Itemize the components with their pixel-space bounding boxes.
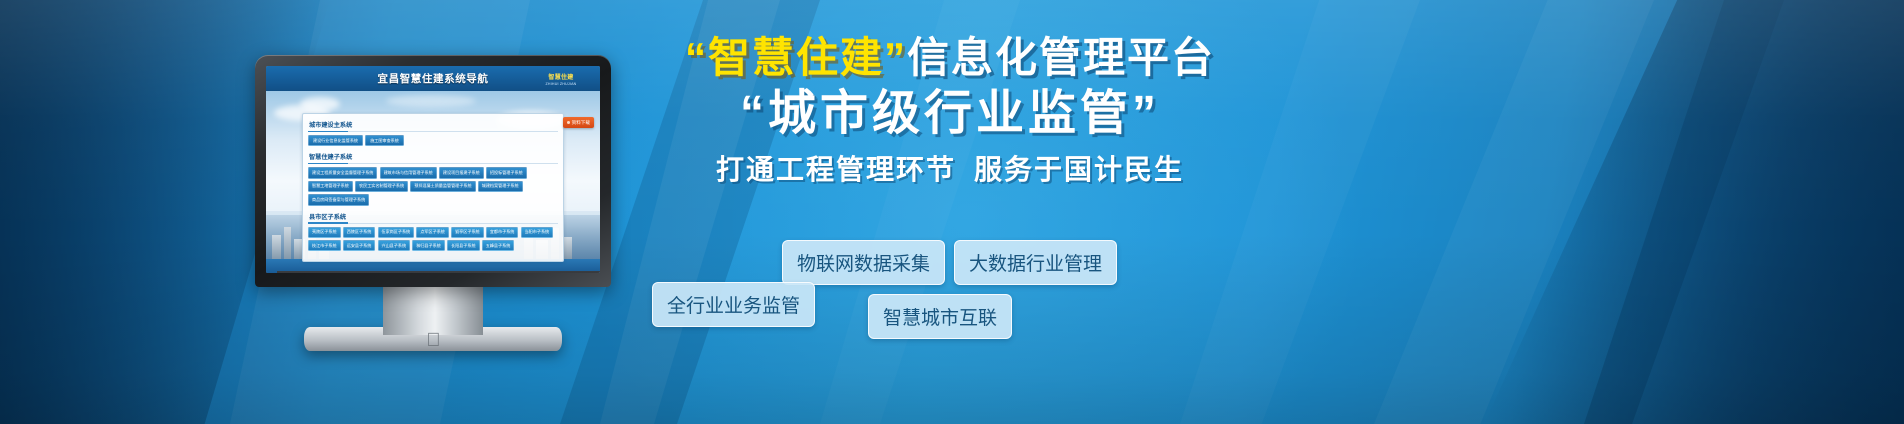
section-title-2: 智慧住建子系统 bbox=[308, 150, 558, 164]
screen-body: 城市建设主系统 建设行业信息化监管系统 施工图审查系统 智慧住建子系统 建设工程… bbox=[266, 91, 600, 273]
screen-logo-cn: 智慧住建 bbox=[528, 72, 594, 81]
section-items-3: 夷陵区子系统 西陵区子系统 伍家岗区子系统 点军区子系统 猇亭区子系统 宜都市子… bbox=[308, 227, 558, 252]
cloud-shape bbox=[300, 97, 340, 111]
screen-title: 宜昌智慧住建系统导航 bbox=[378, 71, 489, 86]
monitor-stand bbox=[383, 283, 483, 335]
feature-tag-iot[interactable]: 物联网数据采集 bbox=[782, 240, 945, 285]
nav-chip[interactable]: 宜都市子系统 bbox=[486, 227, 519, 238]
nav-chip[interactable]: 预拌混凝土质量监管管理子系统 bbox=[410, 181, 475, 192]
nav-chip[interactable]: 枝江市子系统 bbox=[308, 240, 341, 251]
download-icon bbox=[567, 121, 570, 124]
headline-highlight: 智慧住建 bbox=[708, 34, 884, 81]
monitor-screen: 宜昌智慧住建系统导航 智慧住建 ZHIHUI ZHUJIAN bbox=[266, 66, 600, 273]
headline-line-2: “城市级行业监管” bbox=[640, 85, 1260, 144]
section-title-3: 县市区子系统 bbox=[308, 210, 558, 224]
headline-block: “智慧住建”信息化管理平台 “城市级行业监管” 打通工程管理环节服务于国计民生 bbox=[640, 34, 1260, 187]
section-items-1: 建设行业信息化监管系统 施工图审查系统 bbox=[308, 135, 558, 146]
headline-quote-close: ” bbox=[884, 34, 907, 81]
cloud-shape bbox=[386, 95, 476, 107]
feature-tag-supervision[interactable]: 全行业业务监管 bbox=[652, 282, 815, 327]
nav-chip[interactable]: 农民工实名制管理子系统 bbox=[355, 181, 408, 192]
nav-chip[interactable]: 伍家岗区子系统 bbox=[378, 227, 415, 238]
headline-line-3-part-2: 服务于国计民生 bbox=[974, 154, 1184, 185]
headline-line-3: 打通工程管理环节服务于国计民生 bbox=[640, 152, 1260, 187]
section-title-1: 城市建设主系统 bbox=[308, 118, 558, 132]
nav-chip[interactable]: 施工图审查系统 bbox=[365, 135, 404, 146]
section-items-2: 建设工程质量安全监督管理子系统 建筑市场与信用管理子系统 建设项目报建子系统 招… bbox=[308, 167, 558, 205]
nav-chip[interactable]: 当阳市子系统 bbox=[521, 227, 554, 238]
screen-logo: 智慧住建 ZHIHUI ZHUJIAN bbox=[528, 69, 594, 88]
nav-chip[interactable]: 建筑市场与信用管理子系统 bbox=[380, 167, 437, 178]
screen-header: 宜昌智慧住建系统导航 智慧住建 ZHIHUI ZHUJIAN bbox=[266, 66, 600, 91]
nav-chip[interactable]: 兴山县子系统 bbox=[378, 240, 411, 251]
apple-logo-icon:  bbox=[425, 331, 442, 350]
nav-chip[interactable]: 远安县子系统 bbox=[343, 240, 376, 251]
nav-chip[interactable]: 建设行业信息化监管系统 bbox=[308, 135, 363, 146]
hero-banner:  宜昌智慧住建系统导航 智慧住建 ZHIHUI ZHUJIAN bbox=[0, 0, 1904, 424]
nav-chip[interactable]: 五峰县子系统 bbox=[482, 240, 515, 251]
nav-chip[interactable]: 西陵区子系统 bbox=[343, 227, 376, 238]
feature-tag-bigdata[interactable]: 大数据行业管理 bbox=[954, 240, 1117, 285]
headline-line-1-rest: 信息化管理平台 bbox=[907, 34, 1215, 81]
download-button-label: 资料下载 bbox=[572, 120, 590, 126]
headline-quote-open: “ bbox=[685, 34, 708, 81]
feature-tag-smartcity[interactable]: 智慧城市互联 bbox=[868, 294, 1012, 339]
headline-line-1: “智慧住建”信息化管理平台 bbox=[640, 34, 1260, 81]
screen-nav-panel: 城市建设主系统 建设行业信息化监管系统 施工图审查系统 智慧住建子系统 建设工程… bbox=[302, 113, 564, 262]
nav-chip[interactable]: 城建档案管理子系统 bbox=[478, 181, 523, 192]
nav-chip[interactable]: 长阳县子系统 bbox=[447, 240, 480, 251]
nav-chip[interactable]: 建设工程质量安全监督管理子系统 bbox=[308, 167, 377, 178]
nav-chip[interactable]: 点军区子系统 bbox=[416, 227, 449, 238]
nav-chip[interactable]: 招投标管理子系统 bbox=[486, 167, 527, 178]
screen-logo-en: ZHIHUI ZHUJIAN bbox=[528, 82, 594, 86]
headline-line-3-part-1: 打通工程管理环节 bbox=[716, 154, 956, 185]
download-button[interactable]: 资料下载 bbox=[563, 117, 594, 128]
nav-chip[interactable]: 建设项目报建子系统 bbox=[439, 167, 484, 178]
nav-chip[interactable]: 夷陵区子系统 bbox=[308, 227, 341, 238]
monitor-bezel: 宜昌智慧住建系统导航 智慧住建 ZHIHUI ZHUJIAN bbox=[255, 55, 611, 287]
nav-chip[interactable]: 商品房网签备案与管理子系统 bbox=[308, 194, 369, 205]
imac-mockup:  宜昌智慧住建系统导航 智慧住建 ZHIHUI ZHUJIAN bbox=[255, 55, 611, 330]
monitor-chin bbox=[277, 271, 600, 273]
nav-chip[interactable]: 秭归县子系统 bbox=[412, 240, 445, 251]
nav-chip[interactable]: 智慧工地管理子系统 bbox=[308, 181, 353, 192]
nav-chip[interactable]: 猇亭区子系统 bbox=[451, 227, 484, 238]
